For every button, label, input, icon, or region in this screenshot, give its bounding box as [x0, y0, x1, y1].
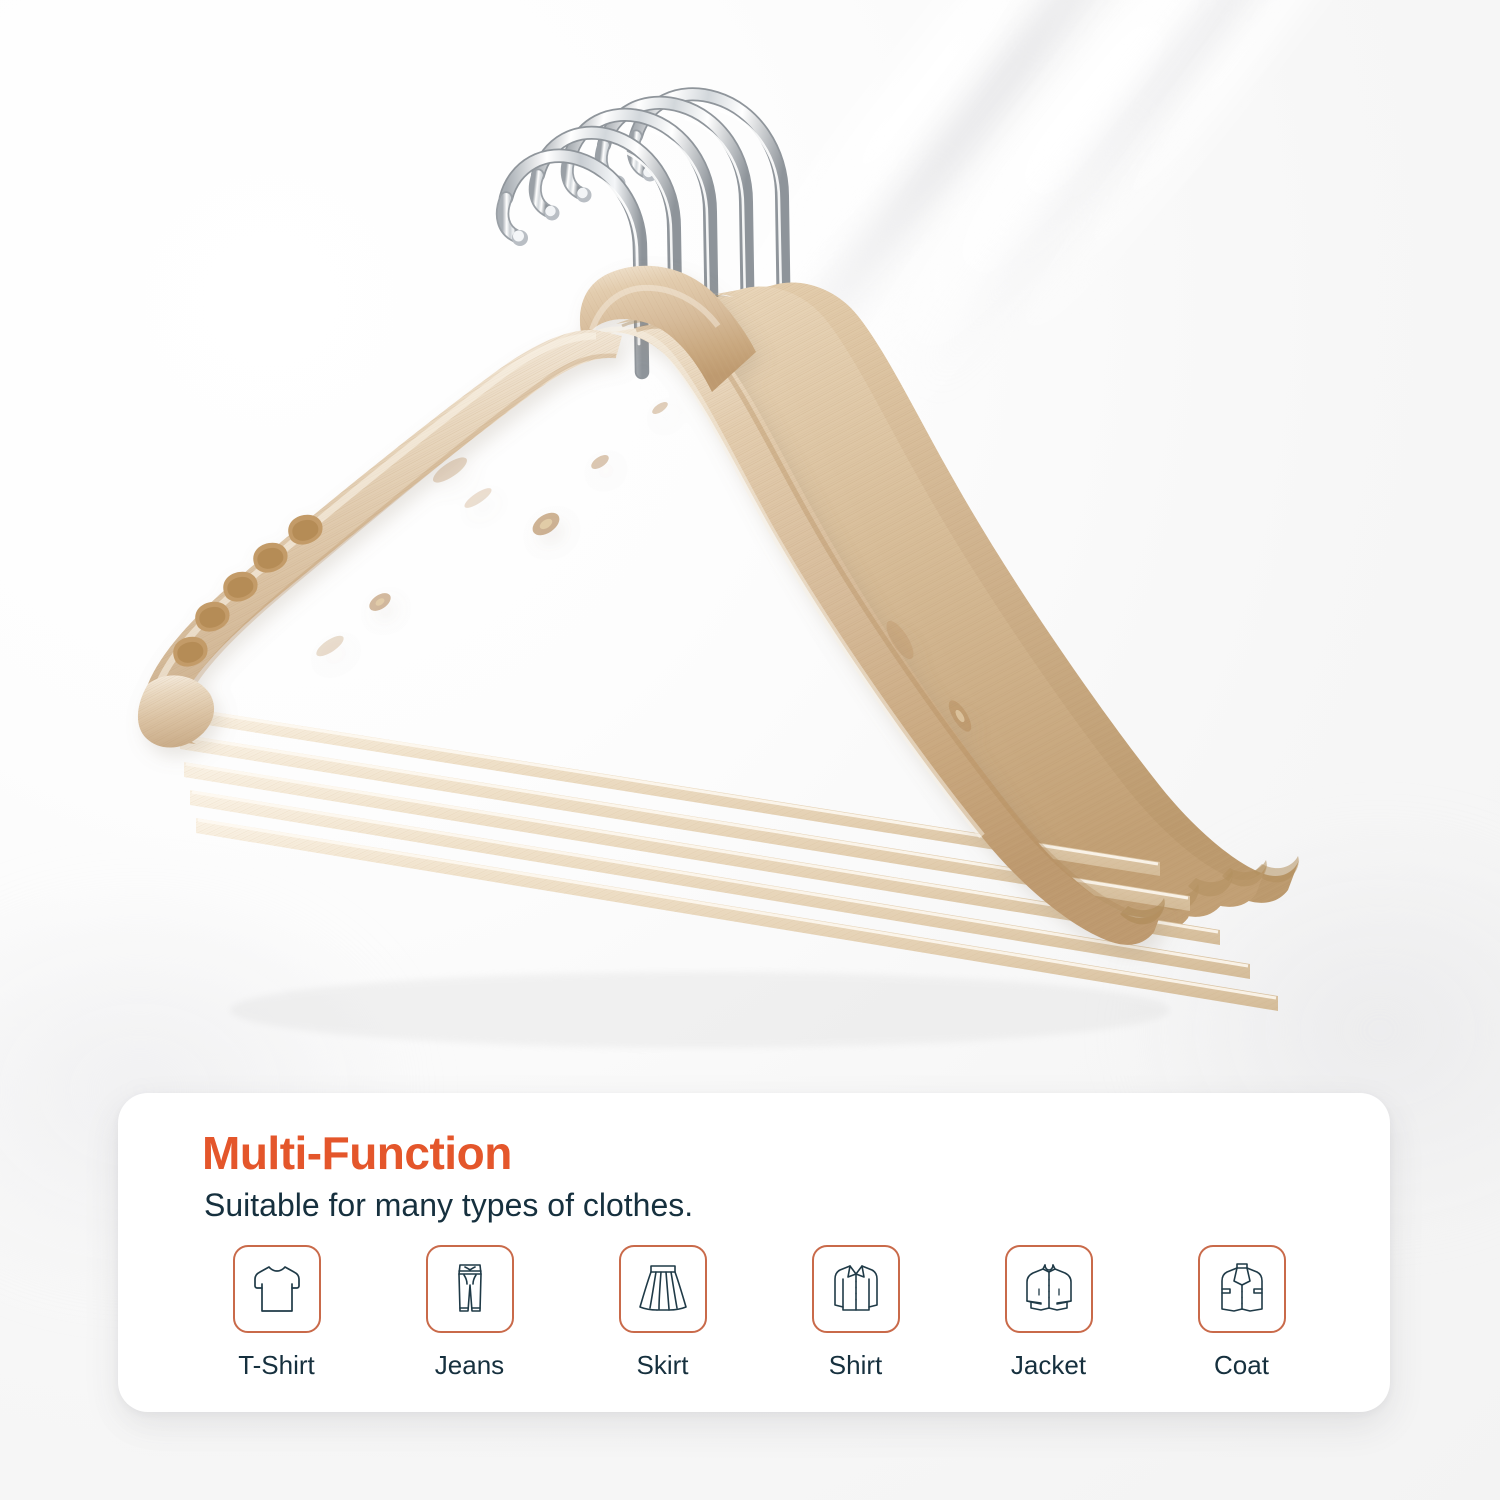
icon-box[interactable] [812, 1245, 900, 1333]
clothing-type-label: Jeans [435, 1350, 504, 1381]
clothing-type-label: Shirt [829, 1350, 882, 1381]
product-image-canvas: Multi-Function Suitable for many types o… [0, 0, 1500, 1500]
clothing-type-tshirt[interactable]: T-Shirt [180, 1245, 373, 1395]
clothing-type-label: Jacket [1011, 1350, 1086, 1381]
hanger-stack-illustration [0, 0, 1500, 1100]
jeans-icon [440, 1259, 500, 1319]
card-title: Multi-Function [202, 1126, 512, 1180]
skirt-icon [633, 1259, 693, 1319]
clothing-type-jacket[interactable]: Jacket [952, 1245, 1145, 1395]
icon-box[interactable] [619, 1245, 707, 1333]
tshirt-icon [247, 1259, 307, 1319]
icon-box[interactable] [1198, 1245, 1286, 1333]
drop-shadow [230, 972, 1170, 1048]
icon-box[interactable] [1005, 1245, 1093, 1333]
shirt-icon [826, 1259, 886, 1319]
icon-box[interactable] [426, 1245, 514, 1333]
icon-box[interactable] [233, 1245, 321, 1333]
clothing-type-jeans[interactable]: Jeans [373, 1245, 566, 1395]
clothing-type-icon-row: T-Shirt Jeans [180, 1245, 1340, 1395]
card-subtitle: Suitable for many types of clothes. [204, 1187, 693, 1224]
clothing-type-shirt[interactable]: Shirt [759, 1245, 952, 1395]
clothing-type-label: T-Shirt [238, 1350, 315, 1381]
jacket-icon [1019, 1259, 1079, 1319]
multi-function-card: Multi-Function Suitable for many types o… [118, 1093, 1390, 1412]
clothing-type-skirt[interactable]: Skirt [566, 1245, 759, 1395]
clothing-type-label: Coat [1214, 1350, 1269, 1381]
strap-notch-group [173, 515, 322, 667]
clothing-type-label: Skirt [637, 1350, 689, 1381]
coat-icon [1212, 1259, 1272, 1319]
clothing-type-coat[interactable]: Coat [1145, 1245, 1338, 1395]
